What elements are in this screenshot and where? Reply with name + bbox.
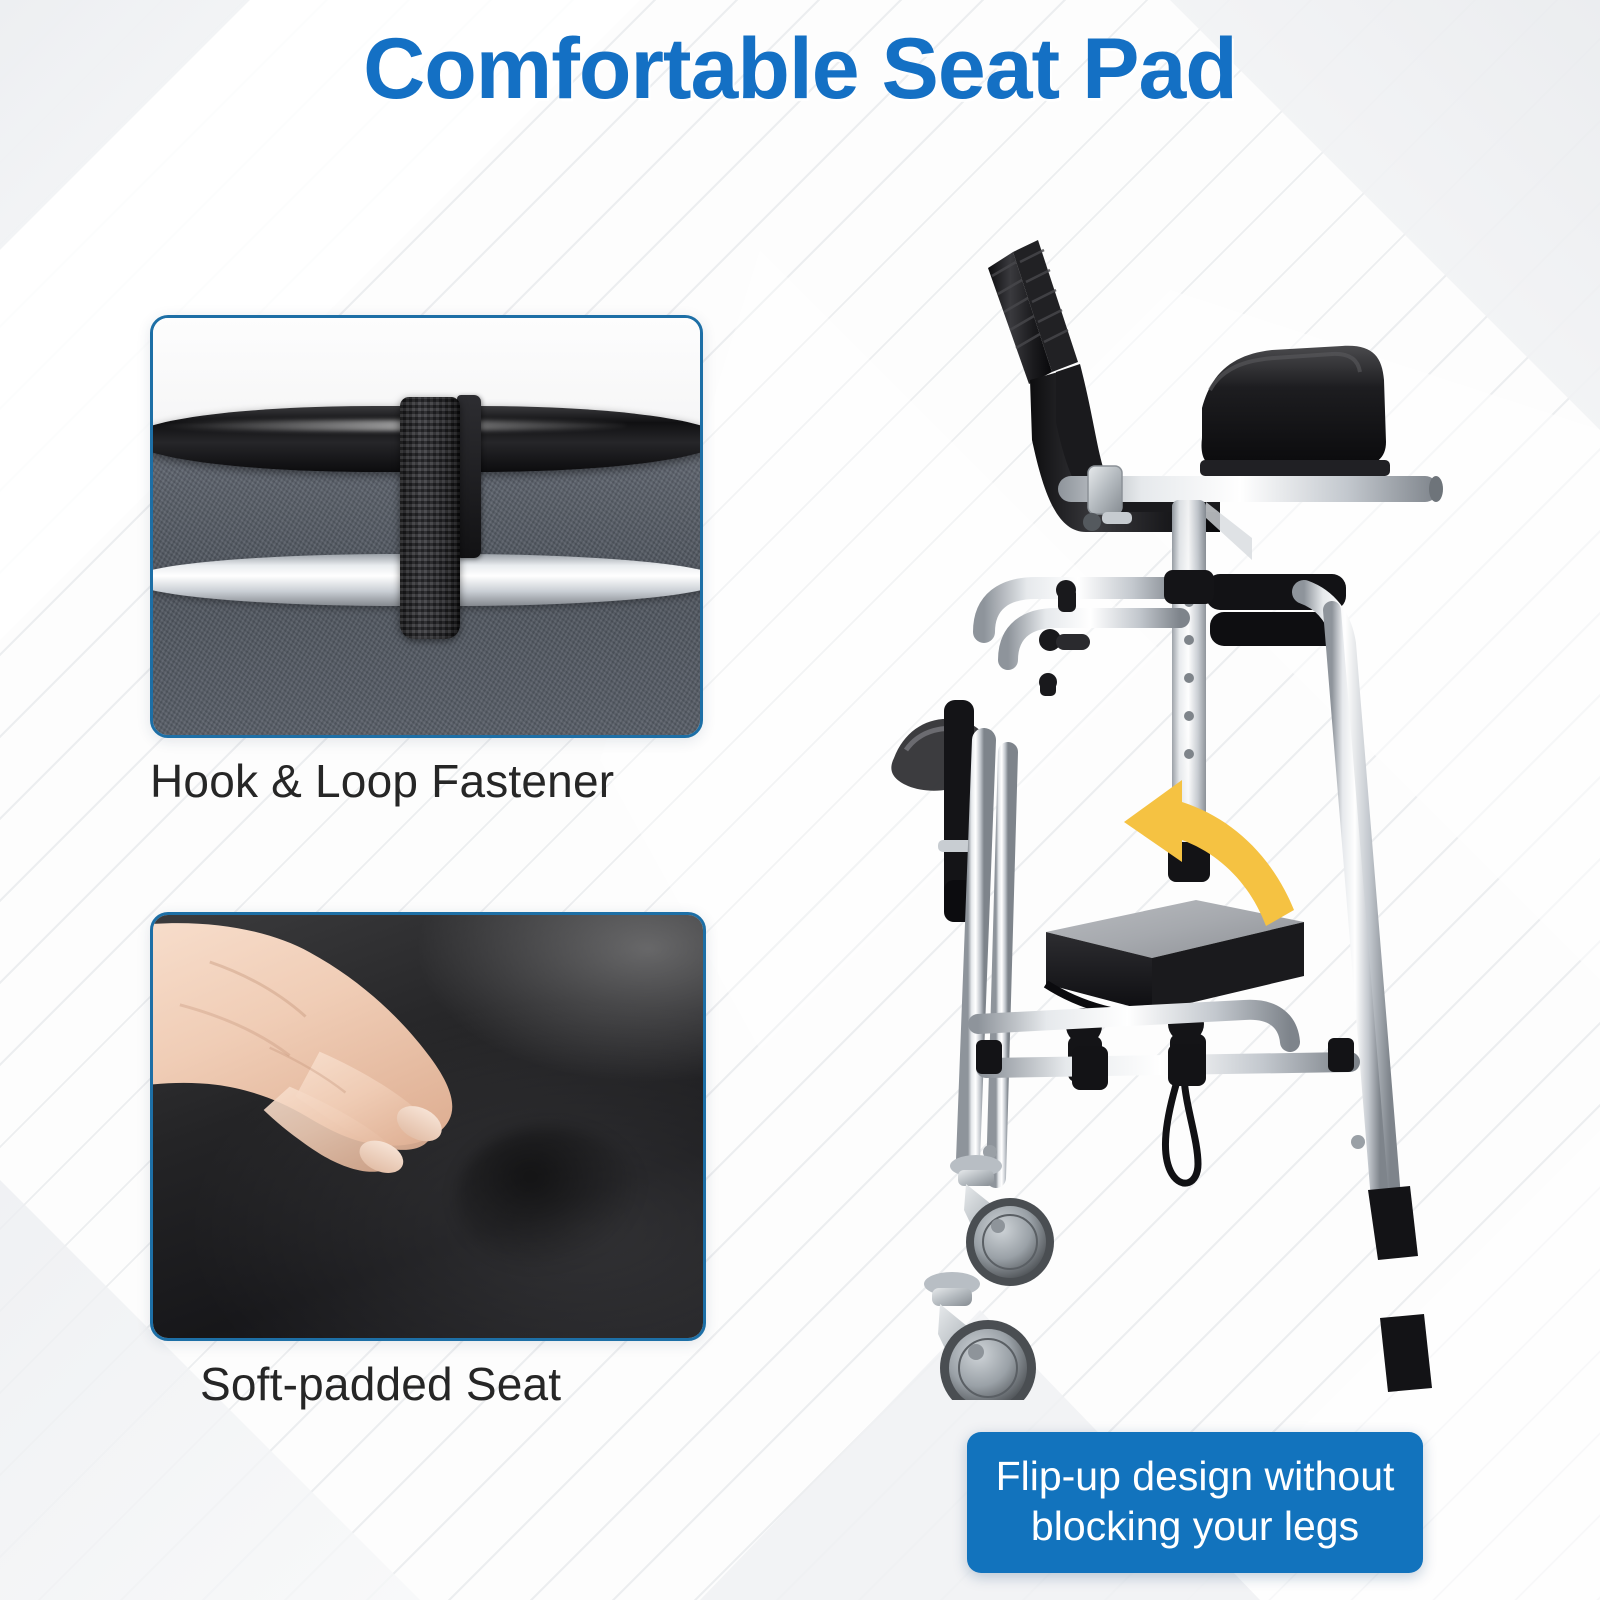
front-casters — [924, 1155, 1054, 1400]
feature-image-hook-loop — [150, 315, 703, 738]
hook-loop-strap — [400, 397, 460, 639]
hook-loop-strap-tab — [457, 395, 481, 558]
marketing-image: Comfortable Seat Pad Hook & Loop Fastene… — [0, 0, 1600, 1600]
feature-image-soft-seat — [150, 912, 706, 1341]
feature-caption-hook-loop: Hook & Loop Fastener — [150, 754, 614, 808]
callout-flip-up-design: Flip-up design without blocking your leg… — [967, 1432, 1423, 1573]
callout-line-2: blocking your legs — [993, 1501, 1397, 1551]
callout-line-1: Flip-up design without — [993, 1451, 1397, 1501]
page-title: Comfortable Seat Pad — [0, 24, 1600, 114]
armrest-pad — [1200, 346, 1390, 476]
upper-frame — [984, 570, 1346, 752]
flip-up-seat — [1046, 900, 1304, 1183]
hand-pressing-illustration — [150, 923, 549, 1244]
feature-caption-soft-seat: Soft-padded Seat — [200, 1357, 561, 1411]
product-walker-illustration — [880, 140, 1500, 1400]
rubber-tips — [1368, 1186, 1432, 1392]
